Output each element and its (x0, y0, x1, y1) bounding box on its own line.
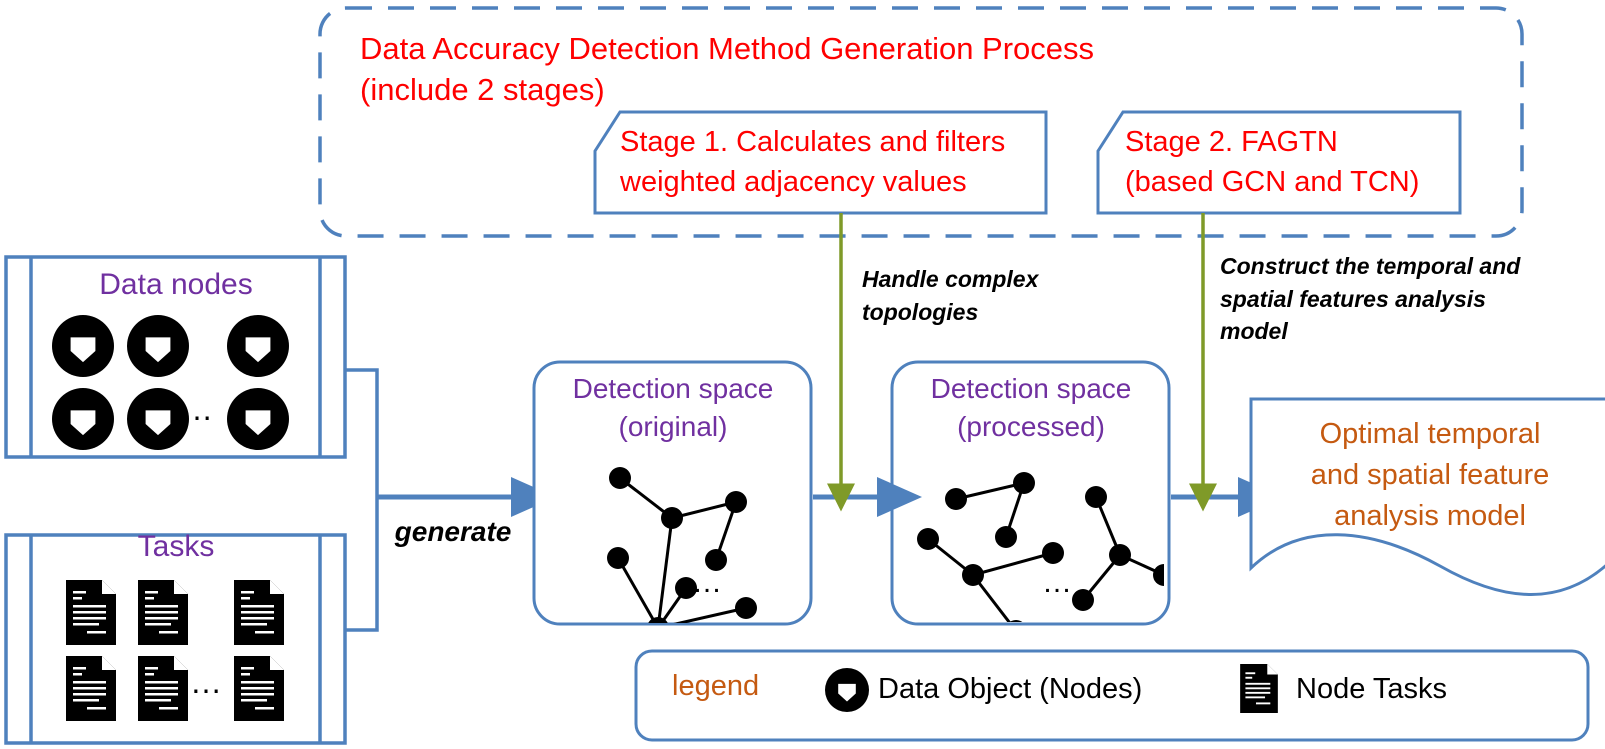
data-object-icon (52, 315, 114, 377)
generate-merge-bracket (345, 370, 377, 630)
legend-title: legend (672, 670, 752, 703)
data-object-icon (52, 388, 114, 450)
document-icon (234, 580, 284, 645)
detection-space-processed-label: Detection space (processed) (898, 370, 1164, 446)
legend-item-label: Data Object (Nodes) (878, 673, 1142, 706)
output-line-3: analysis model (1255, 496, 1605, 537)
tasks-icon-grid: … (66, 580, 316, 720)
data-object-icon (227, 315, 289, 377)
process-container-title: Data Accuracy Detection Method Generatio… (360, 28, 1180, 110)
generate-label: generate (378, 516, 528, 548)
stage-1-label: Stage 1. Calculates and filters weighted… (620, 122, 1040, 202)
graph-processed-ellipsis: … (1042, 566, 1075, 600)
annotation-handle-complex-topologies: Handle complex topologies (862, 263, 1062, 328)
data-nodes-label: Data nodes (35, 268, 317, 302)
detection-original-line-1: Detection space (540, 370, 806, 408)
stage-2-line-2: (based GCN and TCN) (1125, 162, 1465, 202)
document-icon (234, 656, 284, 721)
data-nodes-icon-grid: … (52, 315, 302, 447)
graph-processed (917, 472, 1175, 642)
detection-processed-line-1: Detection space (898, 370, 1164, 408)
document-icon (66, 656, 116, 721)
data-object-icon (127, 388, 189, 450)
output-line-1: Optimal temporal (1255, 414, 1605, 455)
stage-1-line-2: weighted adjacency values (620, 162, 1040, 202)
data-object-icon (127, 315, 189, 377)
process-title-line-2: (include 2 stages) (360, 69, 1180, 110)
stage-2-label: Stage 2. FAGTN (based GCN and TCN) (1125, 122, 1465, 202)
annotation-2-line-3: model (1220, 315, 1540, 348)
stage-1-line-1: Stage 1. Calculates and filters (620, 122, 1040, 162)
legend-item-label: Node Tasks (1296, 673, 1447, 706)
tasks-label: Tasks (35, 530, 317, 564)
document-icon (138, 580, 188, 645)
process-title-line-1: Data Accuracy Detection Method Generatio… (360, 28, 1180, 69)
detection-original-line-2: (original) (540, 408, 806, 446)
output-line-2: and spatial feature (1255, 455, 1605, 496)
detection-processed-line-2: (processed) (898, 408, 1164, 446)
legend-document-icon (1240, 664, 1278, 713)
legend-data-object-icon (825, 668, 869, 712)
detection-space-original-label: Detection space (original) (540, 370, 806, 446)
annotation-2-line-1: Construct the temporal and (1220, 250, 1540, 283)
graph-original-ellipsis: … (692, 566, 725, 600)
tasks-ellipsis: … (190, 664, 225, 701)
document-icon (66, 580, 116, 645)
stage-2-line-1: Stage 2. FAGTN (1125, 122, 1465, 162)
document-icon (138, 656, 188, 721)
output-model-label: Optimal temporal and spatial feature ana… (1255, 414, 1605, 538)
diagram-canvas: Data Accuracy Detection Method Generatio… (0, 0, 1605, 749)
annotation-1-line-2: topologies (862, 296, 1062, 329)
annotation-1-line-1: Handle complex (862, 263, 1062, 296)
annotation-construct-model: Construct the temporal and spatial featu… (1220, 250, 1540, 348)
data-nodes-ellipsis: … (181, 391, 216, 428)
graph-original (607, 467, 757, 639)
data-object-icon (227, 388, 289, 450)
annotation-2-line-2: spatial features analysis (1220, 283, 1540, 316)
